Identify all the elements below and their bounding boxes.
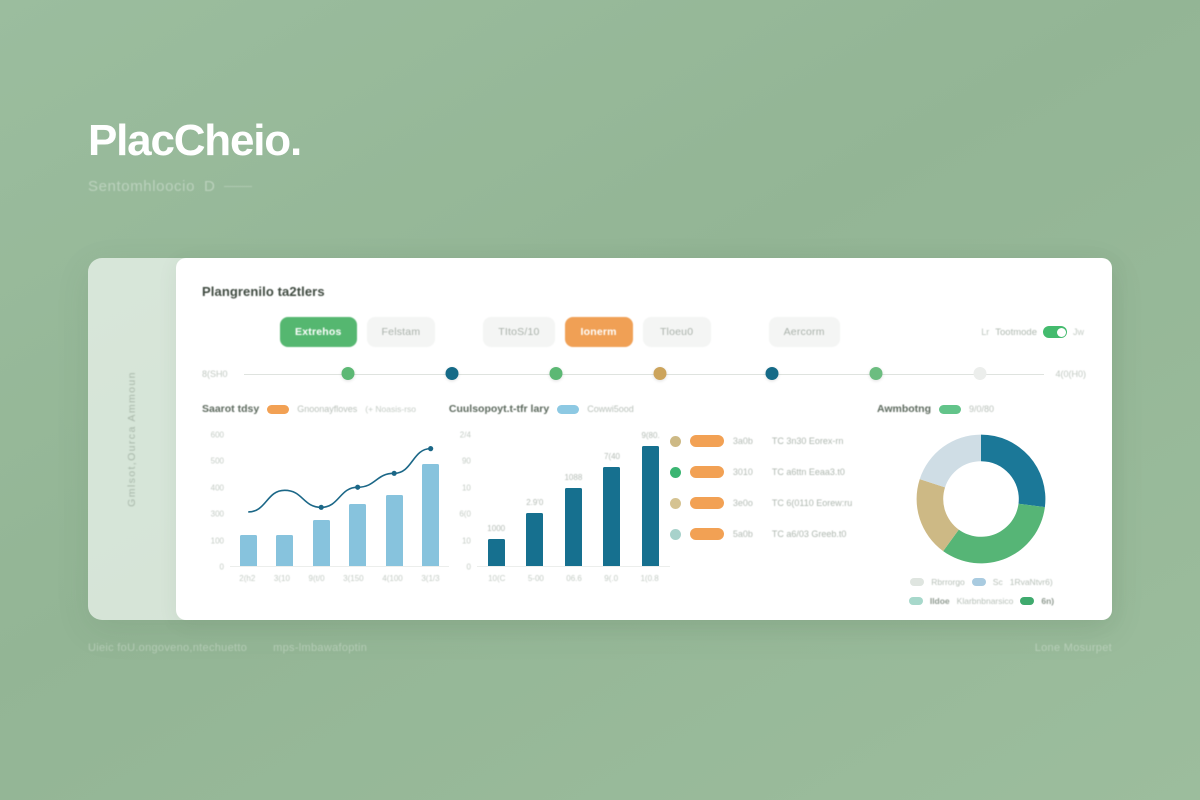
metric-label: TC a6ttn Eeaa3.t0 — [772, 467, 845, 477]
panel-content: Saarot tdsy Gnoonayfloves (+ Noasis-rso … — [202, 401, 1086, 617]
toggle-switch[interactable] — [1043, 326, 1067, 338]
legend-label: Klarbnbnarsico — [957, 596, 1014, 606]
metric-pill — [690, 528, 724, 540]
chart-bars-plotarea: 10002.9'010887(409(80. — [477, 427, 670, 567]
chart-combo-legend-label: Gnoonayfloves — [297, 404, 357, 414]
donut-legend-row-0: RbrrorgoSc1RvaNtvr6) — [910, 577, 1052, 587]
page-title: PlacCheio. — [88, 118, 688, 164]
legend-swatch — [972, 578, 986, 586]
donut-legend: RbrrorgoSc1RvaNtvr6)IldoeKlarbnbnarsico6… — [877, 577, 1086, 606]
donut-slice-3[interactable] — [920, 435, 981, 488]
filter-chip-3[interactable]: Ionerm — [565, 317, 633, 347]
y-tick-4: 100 — [211, 536, 224, 545]
chart-combo-line — [230, 427, 449, 566]
legend-label: Rbrrorgo — [931, 577, 965, 587]
y-tick-5: 0 — [220, 563, 224, 572]
trend-marker-2[interactable] — [319, 505, 324, 510]
timeline-line — [244, 374, 1044, 376]
donut-slice-0[interactable] — [981, 435, 1045, 507]
chart-bars-plot: 2/490106(0100 10002.9'010887(409(80. 10(… — [449, 427, 670, 587]
y-tick-0: 2/4 — [460, 431, 471, 440]
metric-value: 3a0b — [733, 436, 763, 446]
footer-text-1: mps-lmbawafoptin — [273, 642, 367, 654]
x-tick-2: 06.6 — [566, 574, 582, 583]
x-tick-1: 5-00 — [528, 574, 544, 583]
chart-combo-plotarea — [230, 427, 449, 567]
chart-combo-header: Saarot tdsy Gnoonayfloves (+ Noasis-rso — [202, 401, 449, 417]
filter-chip-2[interactable]: TItoS/10 — [483, 317, 554, 347]
status-dot — [670, 498, 681, 509]
mode-toggle-group[interactable]: Lr Tootmode Jw — [981, 326, 1086, 338]
chart-bars-legend-label: Cowwi5ood — [587, 404, 634, 414]
x-tick-0: 10(C — [488, 574, 505, 583]
chart-donut-header: Awmbotng 9/0/80 — [877, 401, 1086, 417]
timeline: 8(SH0 4(0(H0) — [202, 361, 1086, 387]
x-tick-4: 1(0.8 — [640, 574, 658, 583]
timeline-node-6[interactable] — [974, 367, 987, 380]
list-item[interactable]: 3a0bTC 3n30 Eorex-rn — [670, 435, 877, 447]
timeline-node-0[interactable] — [342, 367, 355, 380]
y-tick-4: 10 — [462, 536, 471, 545]
timeline-node-4[interactable] — [766, 367, 779, 380]
metric-label: TC a6/03 Greeb.t0 — [772, 529, 847, 539]
metric-list: 3a0bTC 3n30 Eorex-rn3010TC a6ttn Eeaa3.t… — [670, 401, 877, 617]
bar-value-label-4: 9(80. — [641, 431, 659, 440]
filter-chip-5[interactable]: Aercorm — [769, 317, 840, 347]
y-tick-3: 6(0 — [459, 510, 471, 519]
donut-legend-row-1: IldoeKlarbnbnarsico6n) — [909, 596, 1054, 606]
timeline-node-2[interactable] — [550, 367, 563, 380]
filter-chip-0[interactable]: Extrehos — [280, 317, 357, 347]
page-subtitle: Sentomhloocio D — [88, 178, 688, 195]
donut-slice-1[interactable] — [944, 504, 1046, 564]
left-rail-label: Gmlsot,Ourca Ammoun — [126, 371, 138, 507]
chart-bars-xaxis: 10(C5-0006.69(.01(0.8 — [477, 569, 670, 587]
chart-combo-title: Saarot tdsy — [202, 403, 259, 415]
chart-combo: Saarot tdsy Gnoonayfloves (+ Noasis-rso … — [202, 401, 449, 617]
bar-value-label-1: 2.9'0 — [526, 498, 543, 507]
list-item[interactable]: 3010TC a6ttn Eeaa3.t0 — [670, 466, 877, 478]
footer-left: Uieic foU.ongoveno,ntechuettomps-lmbawaf… — [88, 642, 367, 654]
toggle-prefix-label: Lr — [981, 327, 989, 337]
x-tick-4: 4(100 — [382, 574, 402, 583]
chart-bars-bars: 10002.9'010887(409(80. — [477, 427, 670, 566]
x-tick-3: 9(.0 — [604, 574, 618, 583]
y-tick-1: 90 — [462, 457, 471, 466]
chart-donut-title: Awmbotng — [877, 403, 931, 415]
legend-swatch — [910, 578, 924, 586]
x-tick-2: 9(t/0 — [309, 574, 325, 583]
chart-donut-legend-label: 9/0/80 — [969, 404, 994, 414]
hero: PlacCheio. Sentomhloocio D — [88, 118, 688, 195]
chart-bars-title: Cuulsopoyt.t-tfr lary — [449, 403, 549, 415]
bar-value-label-2: 1088 — [564, 473, 582, 482]
toggle-label: Tootmode — [995, 327, 1037, 338]
y-tick-1: 500 — [211, 457, 224, 466]
chart-bars: Cuulsopoyt.t-tfr lary Cowwi5ood 2/490106… — [449, 401, 670, 617]
metric-pill — [690, 497, 724, 509]
y-tick-3: 300 — [211, 510, 224, 519]
dashboard-card: Gmlsot,Ourca Ammoun Plangrenilo ta2tlers… — [88, 258, 1112, 620]
x-tick-3: 3(150 — [343, 574, 363, 583]
timeline-track[interactable] — [244, 361, 1044, 387]
trend-marker-5[interactable] — [428, 446, 433, 451]
trend-line-path — [248, 449, 430, 512]
dashboard-panel: Plangrenilo ta2tlers ExtrehosFelstamTIto… — [176, 258, 1112, 620]
footer: Uieic foU.ongoveno,ntechuettomps-lmbawaf… — [88, 642, 1112, 654]
legend-label: Ildoe — [930, 596, 950, 606]
metric-label: TC 6(0110 Eorew:ru — [772, 498, 852, 508]
y-tick-5: 0 — [466, 563, 470, 572]
page-subtitle-suffix: D — [204, 178, 215, 195]
bar-3[interactable]: 7(40 — [603, 467, 620, 566]
y-tick-2: 400 — [211, 483, 224, 492]
status-dot — [670, 436, 681, 447]
trend-marker-3[interactable] — [355, 485, 360, 490]
legend-swatch — [1020, 597, 1034, 605]
bar-0[interactable]: 1000 — [488, 539, 505, 566]
timeline-node-3[interactable] — [654, 367, 667, 380]
x-tick-5: 3(1/3 — [421, 574, 439, 583]
metric-pill — [690, 466, 724, 478]
bar-value-label-0: 1000 — [487, 524, 505, 533]
y-tick-2: 10 — [462, 483, 471, 492]
page-subtitle-text: Sentomhloocio — [88, 178, 195, 195]
chart-bars-legend-swatch — [557, 405, 579, 414]
trend-marker-4[interactable] — [392, 471, 397, 476]
chart-combo-plot: 6005004003001000 2(h23(109(t/03(1504(100… — [202, 427, 449, 587]
timeline-start-label: 8(SH0 — [202, 369, 236, 379]
metric-value: 3e0o — [733, 498, 763, 508]
filter-chip-row: ExtrehosFelstamTItoS/10IonermTloeu0Aerco… — [202, 317, 1086, 347]
legend-label: Sc — [993, 577, 1003, 587]
left-rail: Gmlsot,Ourca Ammoun — [88, 258, 176, 620]
donut-svg[interactable] — [911, 429, 1051, 569]
footer-right: Lone Mosurpet — [1035, 642, 1112, 654]
status-dot — [670, 529, 681, 540]
subtitle-rule — [224, 186, 252, 188]
bar-2[interactable]: 1088 — [565, 488, 582, 566]
toggle-suffix-label: Jw — [1073, 327, 1084, 337]
chart-combo-xaxis: 2(h23(109(t/03(1504(1003(1/3 — [230, 569, 449, 587]
list-item[interactable]: 3e0oTC 6(0110 Eorew:ru — [670, 497, 877, 509]
metric-value: 5a0b — [733, 529, 763, 539]
metric-pill — [690, 435, 724, 447]
legend-swatch — [909, 597, 923, 605]
chart-donut-wrap — [877, 429, 1086, 569]
timeline-node-5[interactable] — [870, 367, 883, 380]
chart-donut-legend-swatch — [939, 405, 961, 414]
timeline-node-1[interactable] — [446, 367, 459, 380]
timeline-end-label: 4(0(H0) — [1052, 369, 1086, 379]
x-tick-1: 3(10 — [274, 574, 290, 583]
legend-label: 1RvaNtvr6) — [1010, 577, 1053, 587]
filter-chip-1[interactable]: Felstam — [367, 317, 436, 347]
metric-label: TC 3n30 Eorex-rn — [772, 436, 844, 446]
bar-value-label-3: 7(40 — [604, 452, 620, 461]
chart-bars-header: Cuulsopoyt.t-tfr lary Cowwi5ood — [449, 401, 670, 417]
bar-4[interactable]: 9(80. — [642, 446, 659, 566]
metric-value: 3010 — [733, 467, 763, 477]
list-item[interactable]: 5a0bTC a6/03 Greeb.t0 — [670, 528, 877, 540]
chart-combo-legend-label-2: (+ Noasis-rso — [365, 404, 416, 414]
x-tick-0: 2(h2 — [239, 574, 255, 583]
legend-label: 6n) — [1041, 596, 1054, 606]
metric-list-body: 3a0bTC 3n30 Eorex-rn3010TC a6ttn Eeaa3.t… — [670, 435, 877, 540]
chart-combo-legend-swatch — [267, 405, 289, 414]
chart-bars-yaxis: 2/490106(0100 — [449, 427, 475, 587]
chart-donut: Awmbotng 9/0/80 RbrrorgoSc1RvaNtvr6)Ildo… — [877, 401, 1086, 617]
y-tick-0: 600 — [211, 431, 224, 440]
footer-text-0: Uieic foU.ongoveno,ntechuetto — [88, 642, 247, 654]
filter-chip-4[interactable]: Tloeu0 — [643, 317, 711, 347]
bar-1[interactable]: 2.9'0 — [526, 513, 543, 566]
panel-title: Plangrenilo ta2tlers — [202, 284, 1086, 299]
status-dot — [670, 467, 681, 478]
chart-combo-yaxis: 6005004003001000 — [202, 427, 228, 587]
